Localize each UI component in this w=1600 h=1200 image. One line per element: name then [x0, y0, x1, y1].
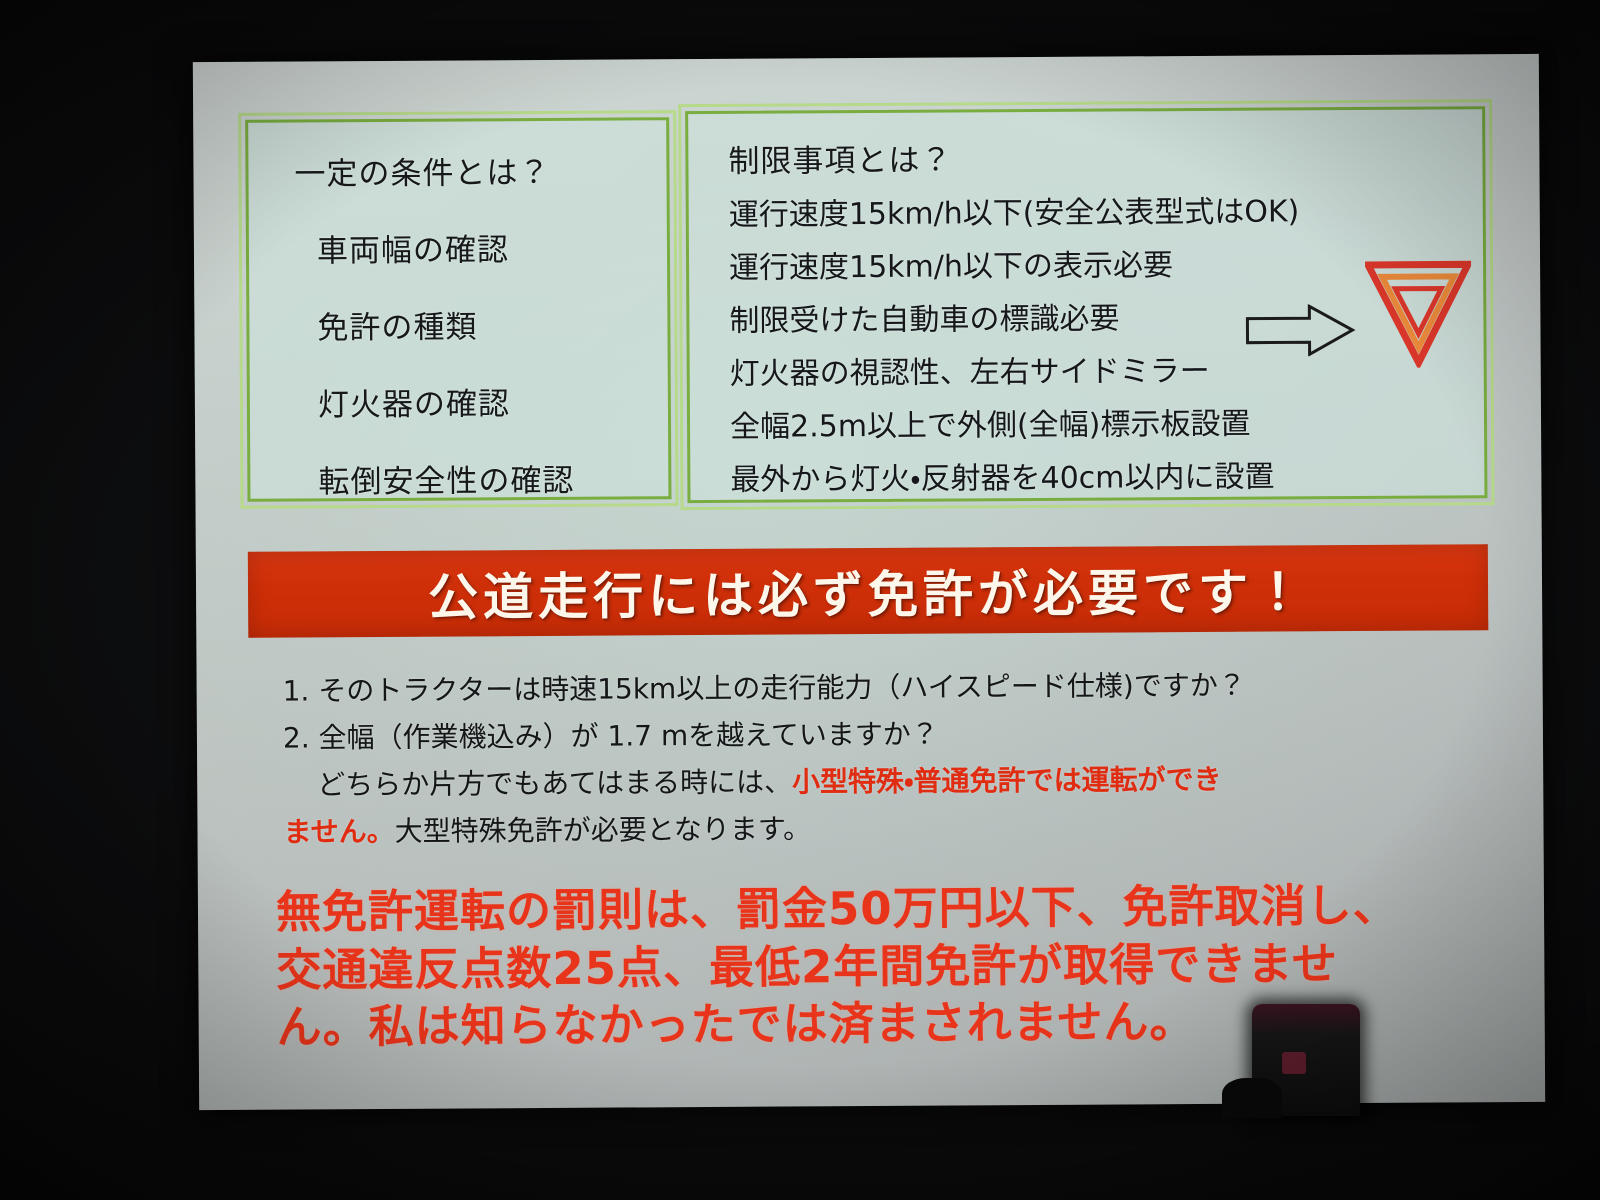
question-note-line-1: どちらか片方でもあてはまる時には、小型特殊・普通免許では運転ができ [317, 756, 1493, 803]
restrictions-item-1: 運行速度15km/h以下(安全公表型式はOK) [729, 185, 1483, 234]
question-note-highlight-1: 小型特殊・普通免許では運転ができ [792, 763, 1222, 799]
penalty-line-2: 交通違反点数25点、最低2年間免許が取得できませ [276, 934, 1506, 999]
restrictions-item-3: 制限受けた自動車の標識必要 [729, 291, 1483, 340]
restrictions-item-5: 全幅2.5m以上で外側(全幅)標示板設置 [730, 397, 1484, 446]
conditions-item-1: 車両幅の確認 [317, 223, 667, 270]
photo-dark-background: 一定の条件とは？ 車両幅の確認 免許の種類 灯火器の確認 転倒安全性の確認 制限… [0, 0, 1600, 1200]
red-banner-text: 公道走行には必ず免許が必要です！ [428, 552, 1308, 629]
slide-content-area: 一定の条件とは？ 車両幅の確認 免許の種類 灯火器の確認 転倒安全性の確認 制限… [193, 54, 1545, 1110]
conditions-box-title: 一定の条件とは？ [294, 146, 666, 193]
restrictions-item-2: 運行速度15km/h以下の表示必要 [729, 238, 1483, 287]
projected-slide: 一定の条件とは？ 車両幅の確認 免許の種類 灯火器の確認 転倒安全性の確認 制限… [193, 54, 1545, 1110]
question-note-plain-1: どちらか片方でもあてはまる時には、 [317, 765, 792, 801]
conditions-item-4: 転倒安全性の確認 [318, 454, 668, 501]
question-note-line-2: ません。大型特殊免許が必要となります。 [283, 803, 1493, 850]
question-item-2: 2. 全幅（作業機込み）が 1.7 mを越えていますか？ [283, 709, 1493, 756]
restrictions-item-4: 灯火器の視認性、左右サイドミラー [730, 344, 1484, 393]
conditions-item-2: 免許の種類 [317, 300, 667, 347]
question-note-plain-2: 大型特殊免許が必要となります。 [395, 812, 812, 848]
question-item-1: 1. そのトラクターは時速15km以上の走行能力（ハイスピード仕様)ですか？ [283, 662, 1493, 709]
conditions-item-3: 灯火器の確認 [318, 377, 668, 424]
foreground-dark-object-shadow [1222, 1078, 1282, 1118]
red-banner: 公道走行には必ず免許が必要です！ [248, 544, 1489, 638]
restrictions-box: 制限事項とは？ 運行速度15km/h以下(安全公表型式はOK) 運行速度15km… [685, 106, 1487, 503]
restrictions-box-title: 制限事項とは？ [728, 131, 1482, 181]
question-note-highlight-2: ません。 [283, 815, 394, 849]
penalty-line-1: 無免許運転の罰則は、罰金50万円以下、免許取消し、 [276, 876, 1506, 941]
question-list: 1. そのトラクターは時速15km以上の走行能力（ハイスピード仕様)ですか？ 2… [283, 662, 1494, 857]
conditions-box: 一定の条件とは？ 車両幅の確認 免許の種類 灯火器の確認 転倒安全性の確認 [245, 117, 671, 502]
restrictions-item-6: 最外から灯火・反射器を40cm以内に設置 [730, 450, 1484, 499]
